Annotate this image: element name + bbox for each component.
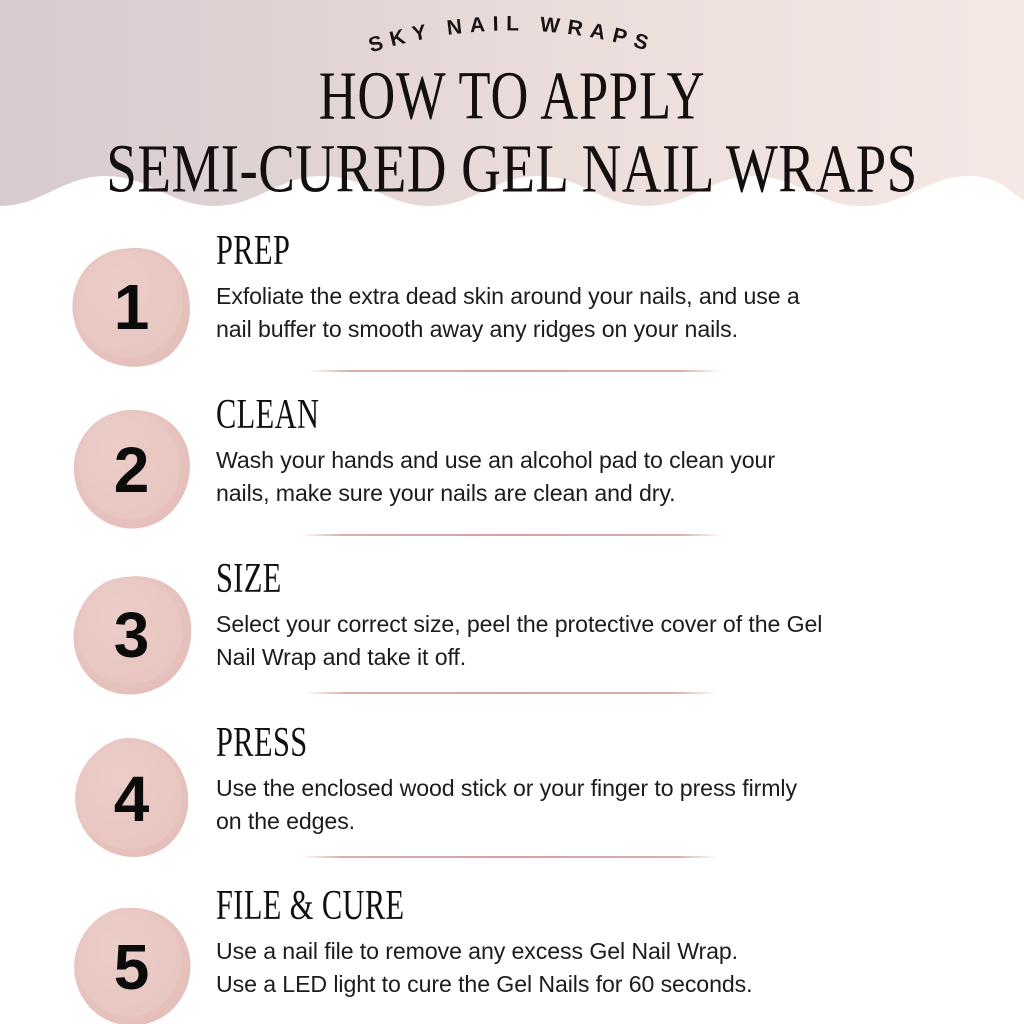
step-description-line: Select your correct size, peel the prote… xyxy=(216,608,984,641)
step-text-block: PREPExfoliate the extra dead skin around… xyxy=(216,232,996,347)
step-number: 5 xyxy=(66,904,196,1024)
step-description-line: Use a LED light to cure the Gel Nails fo… xyxy=(216,968,984,1001)
step-text-block: SIZESelect your correct size, peel the p… xyxy=(216,560,996,675)
svg-text:SKY NAIL WRAPS: SKY NAIL WRAPS xyxy=(366,12,658,57)
step-divider xyxy=(305,692,717,694)
step-divider xyxy=(300,856,718,858)
step-description: Use the enclosed wood stick or your fing… xyxy=(216,772,984,839)
step-title: SIZE xyxy=(216,558,840,600)
step-divider xyxy=(300,534,722,536)
step-number-badge: 2 xyxy=(66,407,196,533)
step-description: Use a nail file to remove any excess Gel… xyxy=(216,935,984,1002)
step-divider xyxy=(308,370,722,372)
step-description-line: Use the enclosed wood stick or your fing… xyxy=(216,772,984,805)
step-number: 1 xyxy=(66,244,196,370)
step-description: Wash your hands and use an alcohol pad t… xyxy=(216,444,984,511)
step-title: PREP xyxy=(216,230,840,272)
brand-name-text: SKY NAIL WRAPS xyxy=(366,12,658,57)
step-number-badge: 1 xyxy=(66,244,196,370)
title-line-1: HOW TO APPLY xyxy=(92,61,932,130)
step-text-block: FILE & CUREUse a nail file to remove any… xyxy=(216,887,996,1002)
step-description-line: nail buffer to smooth away any ridges on… xyxy=(216,313,984,346)
header-banner: SKY NAIL WRAPS HOW TO APPLY SEMI-CURED G… xyxy=(0,0,1024,232)
step-description-line: Exfoliate the extra dead skin around you… xyxy=(216,280,984,313)
step-text-block: CLEANWash your hands and use an alcohol … xyxy=(216,396,996,511)
title-line-2: SEMI-CURED GEL NAIL WRAPS xyxy=(72,134,953,203)
step-description-line: nails, make sure your nails are clean an… xyxy=(216,477,984,510)
step-description-line: on the edges. xyxy=(216,805,984,838)
step-number-badge: 5 xyxy=(66,904,196,1024)
step-number: 3 xyxy=(66,572,196,698)
page-title: HOW TO APPLY SEMI-CURED GEL NAIL WRAPS xyxy=(0,64,1024,201)
steps-list: 1PREPExfoliate the extra dead skin aroun… xyxy=(0,232,1024,1024)
step-number: 2 xyxy=(66,407,196,533)
step-description: Select your correct size, peel the prote… xyxy=(216,608,984,675)
infographic-page: SKY NAIL WRAPS HOW TO APPLY SEMI-CURED G… xyxy=(0,0,1024,1024)
step-description-line: Use a nail file to remove any excess Gel… xyxy=(216,935,984,968)
step-title: PRESS xyxy=(216,722,840,764)
step-description-line: Nail Wrap and take it off. xyxy=(216,641,984,674)
step-number: 4 xyxy=(66,736,196,862)
step-text-block: PRESSUse the enclosed wood stick or your… xyxy=(216,724,996,839)
step-title: CLEAN xyxy=(216,394,840,436)
step-description-line: Wash your hands and use an alcohol pad t… xyxy=(216,444,984,477)
step-description: Exfoliate the extra dead skin around you… xyxy=(216,280,984,347)
step-number-badge: 4 xyxy=(66,736,196,862)
step-title: FILE & CURE xyxy=(216,885,840,927)
step-number-badge: 3 xyxy=(66,572,196,698)
